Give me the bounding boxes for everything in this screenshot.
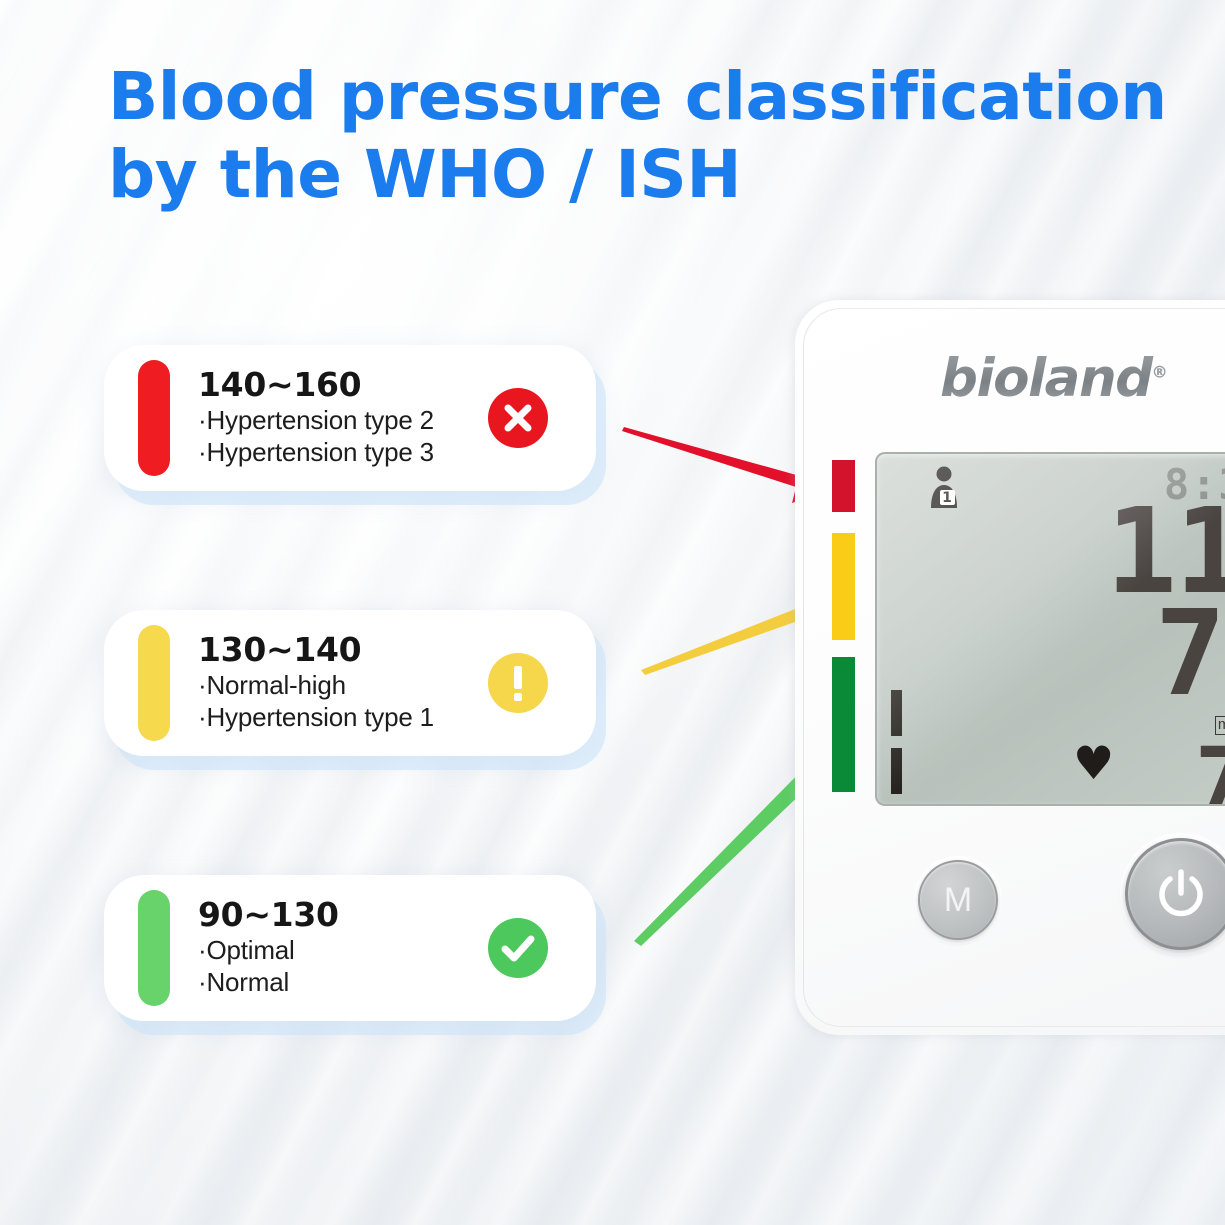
card-range-value: 90~130 [198,897,486,934]
card-content: 90~130 ·Optimal ·Normal [170,897,486,999]
check-icon [486,916,550,980]
page-title: Blood pressure classification by the WHO… [108,58,1168,214]
brand-name: bioland [940,348,1152,409]
power-icon [1153,866,1209,922]
card-detail-line: ·Normal-high [198,669,486,702]
card-color-pill-red [138,360,170,476]
scale-segment-yellow [832,533,855,640]
classification-card-optimal-normal[interactable]: 90~130 ·Optimal ·Normal [104,875,596,1021]
brand-logo: bioland® [940,348,1166,409]
power-button[interactable] [1125,838,1225,950]
user-profile-icon: 1 [927,466,967,510]
lcd-indicator-bars [891,690,902,806]
infographic-stage: Blood pressure classification by the WHO… [0,0,1225,1225]
scale-gap [832,512,855,533]
card-content: 130~140 ·Normal-high ·Hypertension type … [170,632,486,734]
heart-icon: ♥ [1073,740,1114,786]
classification-card-normal-high-hypertension-1[interactable]: 130~140 ·Normal-high ·Hypertension type … [104,610,596,756]
lcd-indicator-bar [891,748,902,794]
lcd-pulse-value: 78 [1195,736,1225,806]
memory-button[interactable]: M [918,860,998,940]
card-detail-line: ·Hypertension type 1 [198,701,486,734]
lcd-diastolic-value: 78 [1155,594,1225,712]
card-range-value: 140~160 [198,367,486,404]
status-badge-warning [486,651,550,715]
classification-card-hypertension-2-3[interactable]: 140~160 ·Hypertension type 2 ·Hypertensi… [104,345,596,491]
card-detail-line: ·Optimal [198,934,486,967]
lcd-display: 1 8:30 115 78 mmHg ♥ 78 [875,452,1225,806]
exclamation-icon [486,651,550,715]
cross-icon [486,386,550,450]
status-badge-success [486,916,550,980]
svg-text:1: 1 [942,490,952,506]
card-detail-line: ·Hypertension type 3 [198,436,486,469]
blood-pressure-monitor-device: bioland® 1 8:30 115 78 mmHg ♥ 78 [795,300,1225,1035]
card-detail-line: ·Normal [198,966,486,999]
trademark-symbol: ® [1152,362,1167,381]
status-badge-danger [486,386,550,450]
scale-segment-red [832,460,855,512]
scale-gap [832,640,855,657]
lcd-indicator-bar [891,690,902,736]
card-color-pill-green [138,890,170,1006]
card-color-pill-yellow [138,625,170,741]
card-content: 140~160 ·Hypertension type 2 ·Hypertensi… [170,367,486,469]
card-range-value: 130~140 [198,632,486,669]
device-color-scale [832,460,855,792]
scale-segment-green [832,657,855,792]
card-detail-line: ·Hypertension type 2 [198,404,486,437]
